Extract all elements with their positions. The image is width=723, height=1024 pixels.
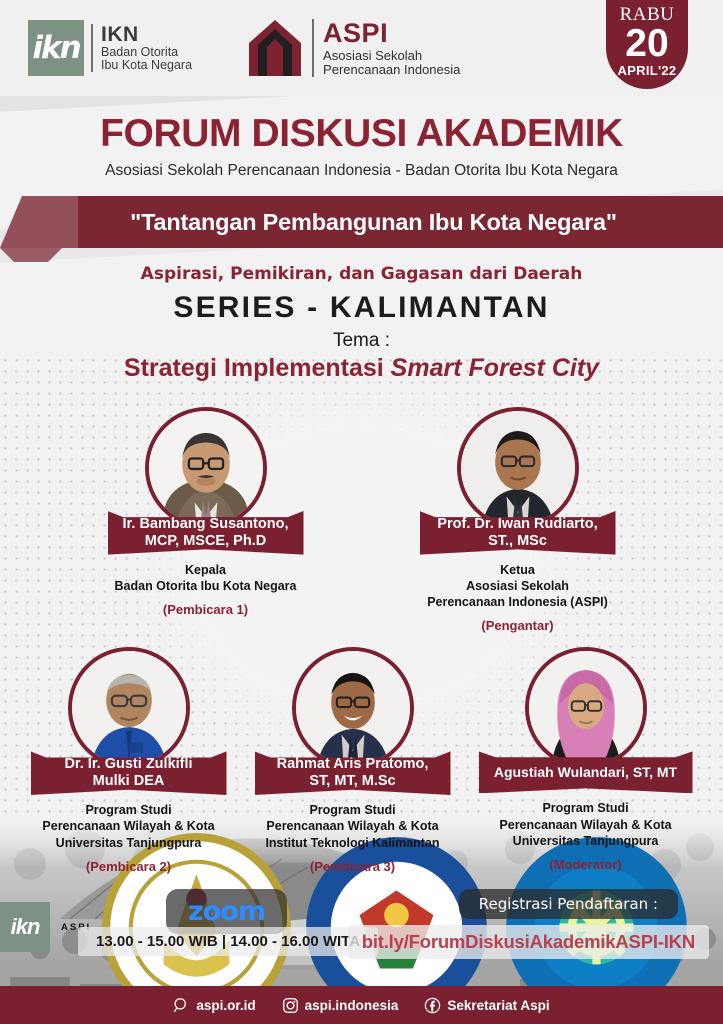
ikn-logo-name: IKN	[101, 24, 192, 46]
ikn-logo-line1: Badan Otorita	[101, 46, 192, 59]
partner-logo-ikn: ikn	[0, 902, 50, 952]
speaker-role: KepalaBadan Otorita Ibu Kota Negara	[108, 562, 304, 595]
aspi-logo-name: ASPI	[323, 19, 460, 49]
speaker-tag: (Pengantar)	[420, 618, 616, 633]
avatar	[145, 407, 267, 529]
avatar	[525, 647, 647, 769]
tema-text: Strategi Implementasi Smart Forest City	[0, 354, 723, 383]
footer-facebook[interactable]: Sekretariat Aspi	[424, 997, 549, 1014]
page-title: FORUM DISKUSI AKADEMIK	[0, 112, 723, 156]
tema-italic: Smart Forest City	[391, 354, 599, 382]
footer-instagram[interactable]: aspi.indonesia	[282, 997, 399, 1014]
aspi-logo: ASPI Asosiasi Sekolah Perencanaan Indone…	[244, 17, 460, 79]
speaker-tag: (Pembicara 1)	[108, 602, 304, 617]
speakers-section: Ir. Bambang Susantono,MCP, MSCE, Ph.D Ke…	[0, 407, 723, 874]
speaker-tag: (Pembicara 3)	[255, 859, 451, 874]
aspi-logo-line1: Asosiasi Sekolah	[323, 49, 460, 63]
tema-label: Tema :	[0, 330, 723, 352]
ikn-mark-icon: ikn	[28, 20, 84, 76]
speaker-card: Ir. Bambang Susantono,MCP, MSCE, Ph.D Ke…	[108, 407, 304, 633]
aspi-logo-line2: Perencanaan Indonesia	[323, 63, 460, 77]
title-section: FORUM DISKUSI AKADEMIK Asosiasi Sekolah …	[0, 96, 723, 180]
quote-band: "Tantangan Pembangunan Ibu Kota Negara"	[52, 196, 723, 248]
speaker-role: KetuaAsosiasi SekolahPerencanaan Indones…	[420, 562, 616, 611]
tema-plain: Strategi Implementasi	[124, 354, 391, 382]
date-badge: RABU 20 APRIL'22	[606, 0, 688, 89]
date-day: 20	[606, 25, 688, 62]
speakers-row-bottom: Dr. Ir. Gusti ZulkifliMulki DEA Program …	[0, 647, 723, 873]
aspi-mark-icon	[244, 17, 306, 79]
avatar	[68, 647, 190, 769]
speaker-photo-gusti	[72, 651, 186, 765]
instagram-icon	[282, 997, 299, 1014]
ikn-logo: ikn IKN Badan Otorita Ibu Kota Negara	[28, 20, 192, 76]
speaker-name-banner: Agustiah Wulandari, ST, MT	[479, 751, 693, 793]
speaker-card: Prof. Dr. Iwan Rudiarto,ST., MSc KetuaAs…	[420, 407, 616, 633]
facebook-icon	[424, 997, 441, 1014]
band-fold-top	[0, 196, 78, 248]
speaker-role: Program StudiPerencanaan Wilayah & KotaU…	[479, 800, 693, 849]
avatar	[457, 407, 579, 529]
speaker-name-banner: Rahmat Aris Pratomo,ST, MT, M.Sc	[255, 751, 451, 795]
speaker-role: Program StudiPerencanaan Wilayah & KotaU…	[31, 802, 227, 851]
poster-footer: aspi.or.id aspi.indonesia Sekretariat As…	[0, 986, 723, 1024]
date-month: APRIL'22	[606, 63, 688, 78]
speaker-photo-iwan	[461, 411, 575, 525]
speaker-name-banner: Dr. Ir. Gusti ZulkifliMulki DEA	[31, 751, 227, 795]
series-section: Aspirasi, Pemikiran, dan Gagasan dari Da…	[0, 264, 723, 383]
speakers-row-top: Ir. Bambang Susantono,MCP, MSCE, Ph.D Ke…	[0, 407, 723, 633]
speaker-photo-rahmat	[296, 651, 410, 765]
avatar	[292, 647, 414, 769]
speaker-role: Program StudiPerencanaan Wilayah & KotaI…	[255, 802, 451, 851]
footer-website-label: aspi.or.id	[196, 998, 255, 1013]
page-subtitle: Asosiasi Sekolah Perencanaan Indonesia -…	[0, 162, 723, 180]
ikn-mini-icon: ikn	[0, 902, 50, 952]
poster-header: ikn IKN Badan Otorita Ibu Kota Negara AS…	[0, 0, 723, 96]
aspirasi-text: Aspirasi, Pemikiran, dan Gagasan dari Da…	[0, 264, 723, 284]
footer-website[interactable]: aspi.or.id	[173, 997, 255, 1014]
quote-band-text: "Tantangan Pembangunan Ibu Kota Negara"	[130, 209, 617, 236]
footer-instagram-label: aspi.indonesia	[305, 998, 399, 1013]
speaker-name-banner: Ir. Bambang Susantono,MCP, MSCE, Ph.D	[108, 511, 304, 555]
registration-url[interactable]: bit.ly/ForumDiskusiAkademikASPI-IKN	[348, 925, 709, 959]
search-icon	[173, 997, 190, 1014]
speaker-photo-bambang	[149, 411, 263, 525]
speaker-name-banner: Prof. Dr. Iwan Rudiarto,ST., MSc	[420, 511, 616, 555]
speaker-photo-agustiah	[529, 651, 643, 765]
poster: ikn IKN Badan Otorita Ibu Kota Negara AS…	[0, 0, 723, 1024]
speaker-tag: (Moderator)	[479, 857, 693, 872]
ikn-logo-line2: Ibu Kota Negara	[101, 59, 192, 72]
speaker-card: Rahmat Aris Pratomo,ST, MT, M.Sc Program…	[255, 647, 451, 873]
footer-facebook-label: Sekretariat Aspi	[447, 998, 549, 1013]
speaker-card: Dr. Ir. Gusti ZulkifliMulki DEA Program …	[31, 647, 227, 873]
registration-label: Registrasi Pendaftaran :	[459, 889, 678, 919]
quote-band-wrapper: "Tantangan Pembangunan Ibu Kota Negara"	[0, 196, 723, 248]
series-text: SERIES - KALIMANTAN	[0, 291, 723, 325]
speaker-tag: (Pembicara 2)	[31, 859, 227, 874]
speaker-card: Agustiah Wulandari, ST, MT Program Studi…	[479, 647, 693, 873]
event-time: 13.00 - 15.00 WIB | 14.00 - 16.00 WITA	[78, 927, 378, 956]
